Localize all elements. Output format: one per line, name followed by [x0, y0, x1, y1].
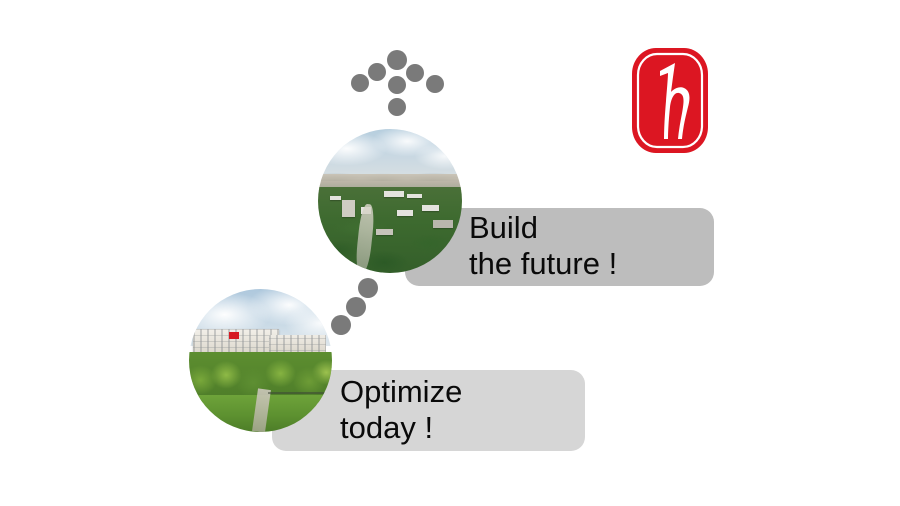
arrow-dot	[388, 98, 406, 116]
building	[376, 229, 393, 235]
arrow-dot	[351, 74, 369, 92]
campus-buildings	[318, 187, 462, 256]
arrow-dot	[426, 75, 444, 93]
photo-campus-aerial	[318, 129, 462, 273]
arrow-dot	[368, 63, 386, 81]
connector-dot	[346, 297, 366, 317]
hospital-red-sign	[229, 332, 239, 339]
arrow-dot	[406, 64, 424, 82]
arrow-dot	[388, 76, 406, 94]
photo-hospital-garden-content	[189, 289, 332, 432]
photo-campus-aerial-content	[318, 129, 462, 273]
building	[342, 200, 355, 217]
building	[422, 205, 439, 211]
building	[330, 196, 342, 200]
building	[433, 220, 453, 228]
presentation-slide: Build the future ! Optimize today !	[0, 0, 900, 506]
logo-svg	[631, 47, 709, 154]
arrow-dot	[387, 50, 407, 70]
connector-dot	[331, 315, 351, 335]
building	[384, 191, 404, 197]
building	[407, 194, 421, 199]
connector-dot	[358, 278, 378, 298]
photo-hospital-garden	[189, 289, 332, 432]
building	[397, 210, 413, 216]
hacettepe-university-logo	[631, 47, 709, 154]
fence	[268, 392, 328, 394]
